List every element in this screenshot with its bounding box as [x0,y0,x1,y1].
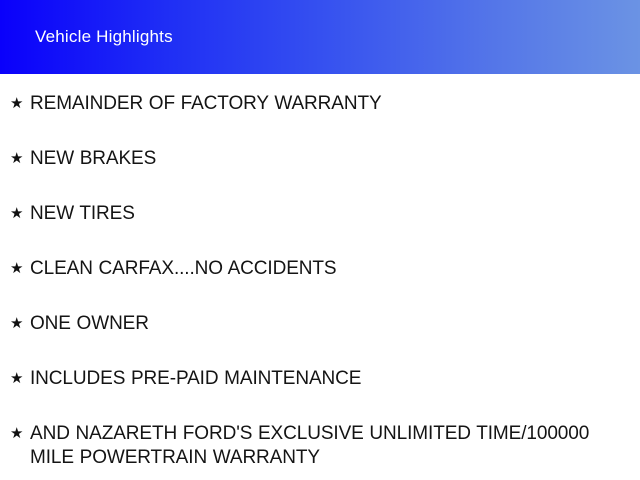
list-item: ★ CLEAN CARFAX....NO ACCIDENTS [0,257,640,281]
star-icon: ★ [10,257,30,281]
list-item: ★ REMAINDER OF FACTORY WARRANTY [0,92,640,116]
list-item-label: INCLUDES PRE-PAID MAINTENANCE [30,367,630,391]
list-item: ★ AND NAZARETH FORD'S EXCLUSIVE UNLIMITE… [0,422,640,470]
vehicle-highlights-list: ★ REMAINDER OF FACTORY WARRANTY ★ NEW BR… [0,74,640,470]
list-item-label: NEW BRAKES [30,147,630,171]
star-icon: ★ [10,367,30,391]
list-item-label: AND NAZARETH FORD'S EXCLUSIVE UNLIMITED … [30,422,630,470]
list-item-label: REMAINDER OF FACTORY WARRANTY [30,92,630,116]
star-icon: ★ [10,422,30,446]
panel-header: Vehicle Highlights [0,0,640,74]
list-item-label: CLEAN CARFAX....NO ACCIDENTS [30,257,630,281]
page-title: Vehicle Highlights [35,27,173,47]
list-item: ★ NEW BRAKES [0,147,640,171]
list-item: ★ INCLUDES PRE-PAID MAINTENANCE [0,367,640,391]
star-icon: ★ [10,147,30,171]
vehicle-highlights-panel: Vehicle Highlights ★ REMAINDER OF FACTOR… [0,0,640,480]
list-item: ★ ONE OWNER [0,312,640,336]
star-icon: ★ [10,312,30,336]
star-icon: ★ [10,92,30,116]
list-item-label: ONE OWNER [30,312,630,336]
list-item: ★ NEW TIRES [0,202,640,226]
list-item-label: NEW TIRES [30,202,630,226]
star-icon: ★ [10,202,30,226]
